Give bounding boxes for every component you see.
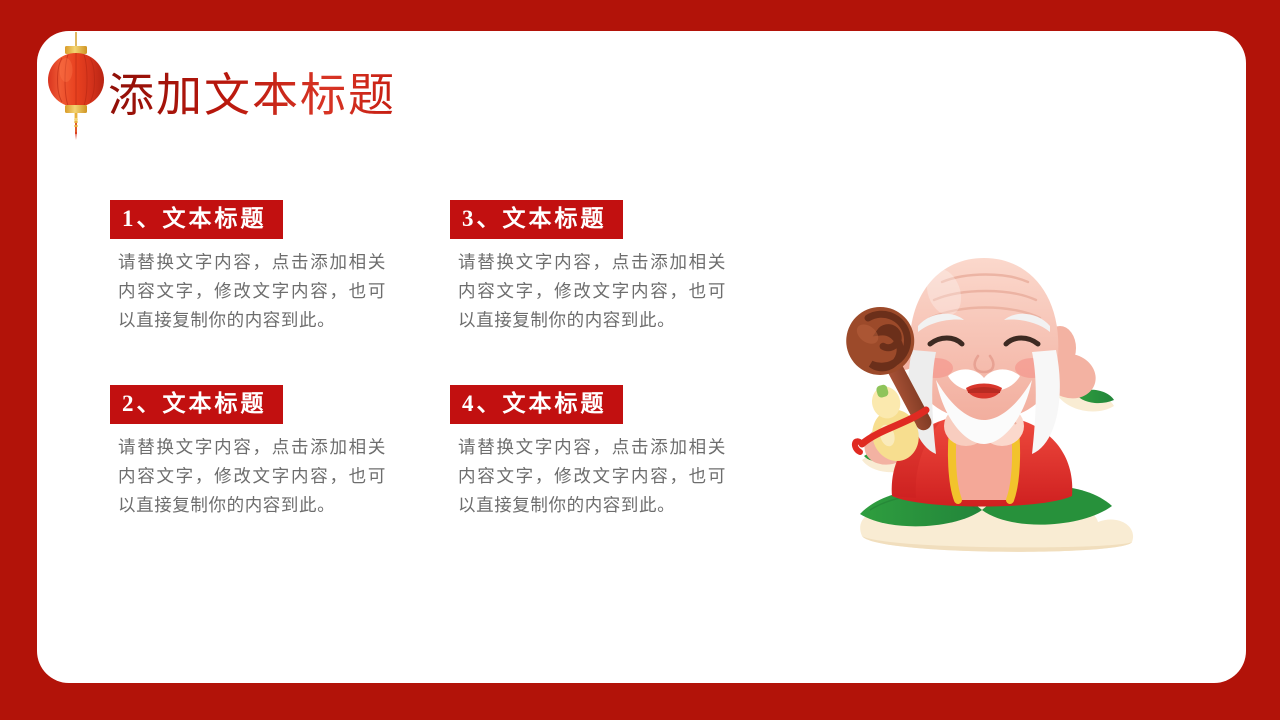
page-title: 添加文本标题 [108,68,396,124]
text-block-1-badge[interactable]: 1、文本标题 [110,200,283,239]
text-blocks-row-top: 1、文本标题 请替换文字内容，点击添加相关内容文字，修改文字内容，也可以直接复制… [110,200,750,361]
god-of-longevity-icon [826,248,1238,588]
text-block-1[interactable]: 1、文本标题 请替换文字内容，点击添加相关内容文字，修改文字内容，也可以直接复制… [110,200,392,335]
text-block-4-body[interactable]: 请替换文字内容，点击添加相关内容文字，修改文字内容，也可以直接复制你的内容到此。 [450,433,726,520]
text-block-2-body[interactable]: 请替换文字内容，点击添加相关内容文字，修改文字内容，也可以直接复制你的内容到此。 [110,433,386,520]
red-lantern-icon [45,32,107,144]
text-block-1-body[interactable]: 请替换文字内容，点击添加相关内容文字，修改文字内容，也可以直接复制你的内容到此。 [110,248,386,335]
text-block-3[interactable]: 3、文本标题 请替换文字内容，点击添加相关内容文字，修改文字内容，也可以直接复制… [450,200,732,335]
text-block-2-badge[interactable]: 2、文本标题 [110,385,283,424]
slide-canvas: 添加文本标题 1、文本标题 请替换文字内容，点击添加相关内容文字，修改文字内容，… [0,0,1280,720]
slide-header: 添加文本标题 [45,32,445,142]
text-block-4-badge[interactable]: 4、文本标题 [450,385,623,424]
text-block-3-badge[interactable]: 3、文本标题 [450,200,623,239]
text-blocks-grid: 1、文本标题 请替换文字内容，点击添加相关内容文字，修改文字内容，也可以直接复制… [110,200,750,546]
text-block-3-body[interactable]: 请替换文字内容，点击添加相关内容文字，修改文字内容，也可以直接复制你的内容到此。 [450,248,726,335]
text-blocks-row-bottom: 2、文本标题 请替换文字内容，点击添加相关内容文字，修改文字内容，也可以直接复制… [110,385,750,546]
text-block-2[interactable]: 2、文本标题 请替换文字内容，点击添加相关内容文字，修改文字内容，也可以直接复制… [110,385,392,520]
text-block-4[interactable]: 4、文本标题 请替换文字内容，点击添加相关内容文字，修改文字内容，也可以直接复制… [450,385,732,520]
